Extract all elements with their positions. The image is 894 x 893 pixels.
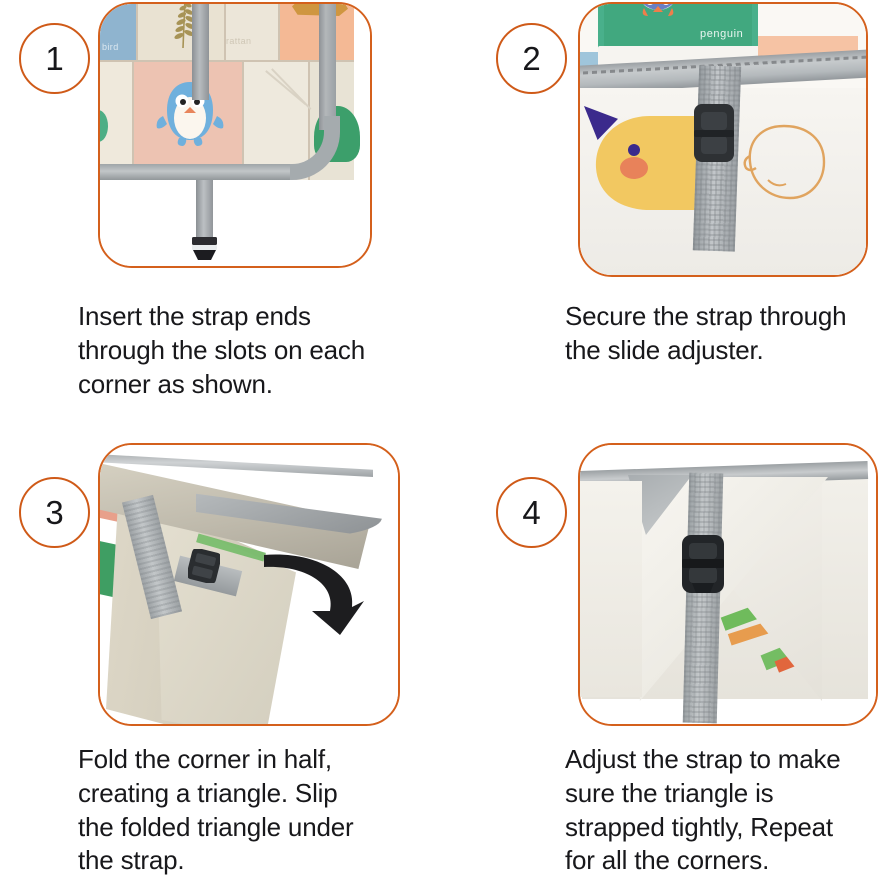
step-photo-2: penguin	[580, 4, 866, 275]
step-3: 3	[0, 440, 447, 893]
step-number-label: 2	[522, 42, 540, 75]
step-4: 4	[447, 440, 894, 893]
step-caption-4: Adjust the strap to make sure the triang…	[565, 743, 894, 878]
edge-binding-tape	[319, 4, 336, 130]
step-photo-1: bird rattan	[100, 4, 370, 266]
slide-adjuster-buckle-icon	[680, 533, 726, 595]
step-caption-1: Insert the strap ends through the slots …	[78, 300, 450, 401]
step-number-badge-3: 3	[19, 477, 90, 548]
duck-icon	[588, 112, 700, 212]
webbing-strap	[683, 473, 724, 724]
card-label-penguin: penguin	[700, 28, 743, 40]
step-photo-3	[100, 445, 398, 724]
step-number-badge-2: 2	[496, 23, 567, 94]
step-photo-frame-2: penguin	[578, 2, 868, 277]
mat-label-bird: bird	[102, 42, 119, 52]
step-number-badge-4: 4	[496, 477, 567, 548]
curved-arrow-icon	[260, 549, 370, 639]
step-2: 2 penguin	[447, 0, 894, 440]
step-1: 1	[0, 0, 447, 440]
step-photo-frame-4	[578, 443, 878, 726]
play-mat-surface: bird rattan	[100, 4, 348, 180]
webbing-strap	[192, 4, 209, 100]
step-photo-frame-1: bird rattan	[98, 2, 372, 268]
mat-label-rattan: rattan	[226, 36, 251, 46]
step-number-label: 3	[45, 496, 63, 529]
edge-binding-tape	[100, 164, 290, 180]
penguin-icon	[630, 4, 686, 22]
slide-adjuster-buckle-icon	[692, 102, 736, 164]
strap-buckle-icon	[191, 237, 218, 261]
step-number-label: 1	[45, 42, 63, 75]
duck-outline-icon	[740, 122, 826, 204]
step-number-badge-1: 1	[19, 23, 90, 94]
step-caption-3: Fold the corner in half, creating a tria…	[78, 743, 450, 878]
instruction-sheet: 1	[0, 0, 894, 893]
step-caption-2: Secure the strap through the slide adjus…	[565, 300, 894, 368]
penguin-icon	[153, 76, 227, 148]
step-photo-frame-3	[98, 443, 400, 726]
step-number-label: 4	[522, 496, 540, 529]
slide-adjuster-buckle-icon	[188, 549, 220, 583]
step-photo-4	[580, 445, 876, 724]
